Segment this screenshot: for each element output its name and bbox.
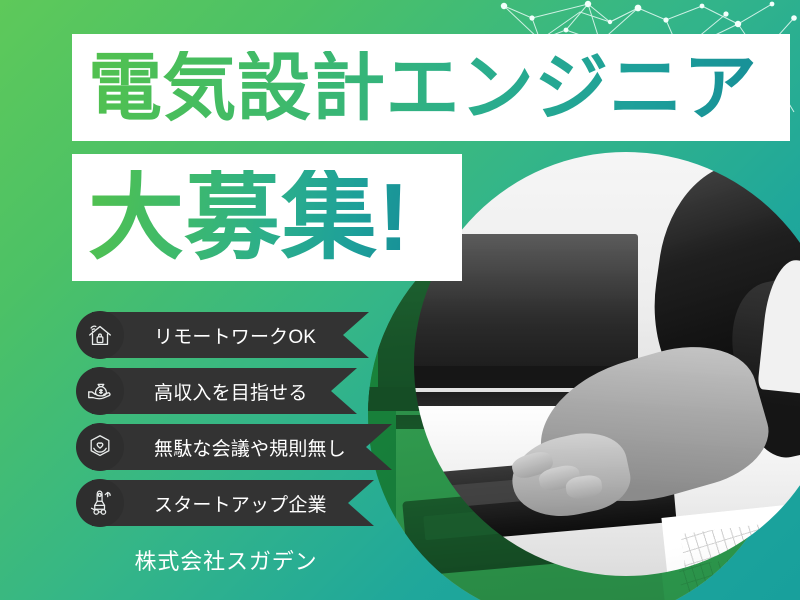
- company-name: 株式会社スガデン: [76, 544, 376, 576]
- feature-badge-list: リモートワークOK 高収入を目指せる: [76, 312, 376, 536]
- rocket-startup-icon: [76, 479, 124, 527]
- badge-ribbon: スタートアップ企業: [92, 480, 374, 526]
- badge-label: 無駄な会議や規則無し: [154, 434, 346, 461]
- engineer-photo-circle: [414, 152, 800, 576]
- photo-surface-main: [414, 152, 800, 576]
- headline-box-primary: 電気設計エンジニア: [72, 34, 790, 141]
- badge-ribbon: 高収入を目指せる: [92, 368, 357, 414]
- headline-line-1: 電気設計エンジニア: [88, 51, 757, 125]
- feature-badge-high-income: 高収入を目指せる: [76, 368, 376, 414]
- house-wifi-lock-icon: [76, 311, 124, 359]
- recruitment-banner: 電気設計エンジニア 大募集! リモートワークOK: [0, 0, 800, 600]
- feature-badge-no-useless-meetings: 無駄な会議や規則無し: [76, 424, 376, 470]
- badge-ribbon: 無駄な会議や規則無し: [92, 424, 392, 470]
- hand-heart-icon: [76, 423, 124, 471]
- feature-badge-remote-work: リモートワークOK: [76, 312, 376, 358]
- badge-label: 高収入を目指せる: [154, 378, 308, 405]
- headline-box-secondary: 大募集!: [72, 154, 462, 281]
- hand-money-bag-icon: [76, 367, 124, 415]
- badge-label: スタートアップ企業: [154, 490, 327, 517]
- badge-ribbon: リモートワークOK: [92, 312, 369, 358]
- badge-label: リモートワークOK: [154, 322, 316, 349]
- feature-badge-startup: スタートアップ企業: [76, 480, 376, 526]
- headline-line-2: 大募集!: [88, 170, 410, 266]
